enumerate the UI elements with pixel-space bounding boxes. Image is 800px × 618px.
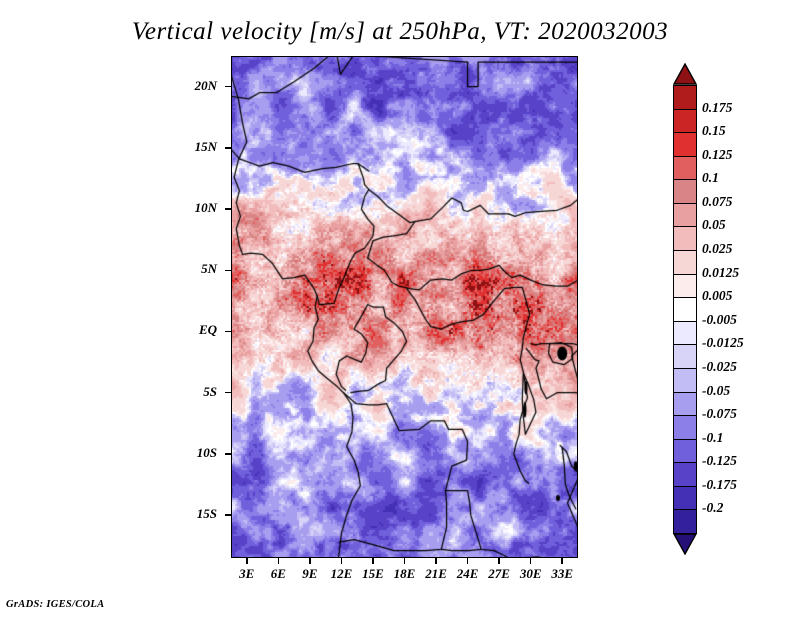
- colorbar-swatch: [673, 250, 697, 275]
- colorbar-tick-label: -0.025: [702, 359, 737, 375]
- chart-title: Vertical velocity [m/s] at 250hPa, VT: 2…: [0, 18, 800, 46]
- x-axis-tick: [341, 558, 343, 564]
- y-axis-label: 5N: [173, 261, 217, 277]
- y-axis-tick: [225, 453, 231, 455]
- map-plot-area: [231, 56, 578, 558]
- x-axis-tick: [467, 558, 469, 564]
- x-axis-tick: [246, 558, 248, 564]
- colorbar-tick-label: -0.005: [702, 312, 737, 328]
- colorbar-tick-label: 0.075: [702, 194, 732, 210]
- colorbar-tick-label: 0.025: [702, 241, 732, 257]
- colorbar-swatch: [673, 109, 697, 134]
- colorbar-tick-label: 0.0125: [702, 265, 739, 281]
- colorbar-tick-label: 0.05: [702, 217, 726, 233]
- colorbar-tick-label: 0.005: [702, 288, 732, 304]
- y-axis-tick: [225, 392, 231, 394]
- x-axis-tick: [309, 558, 311, 564]
- colorbar-arrow-up: [673, 63, 697, 85]
- colorbar-swatch: [673, 297, 697, 322]
- colorbar-swatch: [673, 274, 697, 299]
- footer-credit: GrADS: IGES/COLA: [6, 599, 104, 610]
- colorbar-tick-label: 0.125: [702, 147, 732, 163]
- x-axis-tick: [435, 558, 437, 564]
- colorbar-tick-label: -0.1: [702, 430, 723, 446]
- y-axis-label: 10S: [173, 445, 217, 461]
- colorbar-tick-label: 0.1: [702, 170, 719, 186]
- colorbar-tick-label: -0.175: [702, 477, 737, 493]
- x-axis-tick: [498, 558, 500, 564]
- x-axis-tick: [530, 558, 532, 564]
- x-axis-tick: [561, 558, 563, 564]
- colorbar-tick-label: -0.0125: [702, 335, 744, 351]
- colorbar-swatch: [673, 486, 697, 511]
- colorbar: [673, 63, 697, 555]
- y-axis-label: 15S: [173, 506, 217, 522]
- colorbar-swatch: [673, 179, 697, 204]
- y-axis-tick: [225, 147, 231, 149]
- colorbar-tick-label: -0.125: [702, 453, 737, 469]
- colorbar-swatch: [673, 321, 697, 346]
- colorbar-arrow-down: [673, 533, 697, 555]
- colorbar-swatch: [673, 132, 697, 157]
- colorbar-swatch: [673, 462, 697, 487]
- x-axis-tick: [278, 558, 280, 564]
- colorbar-swatch: [673, 344, 697, 369]
- y-axis-tick: [225, 208, 231, 210]
- colorbar-swatch: [673, 439, 697, 464]
- y-axis-label: 5S: [173, 384, 217, 400]
- colorbar-swatch: [673, 85, 697, 110]
- colorbar-tick-label: 0.15: [702, 123, 726, 139]
- colorbar-swatch: [673, 509, 697, 534]
- colorbar-swatch: [673, 392, 697, 417]
- colorbar-swatch: [673, 415, 697, 440]
- y-axis-label: 10N: [173, 200, 217, 216]
- x-axis-label: 33E: [540, 566, 584, 582]
- colorbar-swatch: [673, 226, 697, 251]
- colorbar-swatch: [673, 203, 697, 228]
- colorbar-tick-label: -0.2: [702, 500, 723, 516]
- colorbar-tick-label: -0.075: [702, 406, 737, 422]
- colorbar-tick-label: -0.05: [702, 383, 730, 399]
- x-axis-tick: [372, 558, 374, 564]
- colorbar-tick-label: 0.175: [702, 100, 732, 116]
- colorbar-swatch: [673, 368, 697, 393]
- y-axis-tick: [225, 331, 231, 333]
- y-axis-label: 15N: [173, 139, 217, 155]
- y-axis-tick: [225, 86, 231, 88]
- colorbar-swatch: [673, 156, 697, 181]
- x-axis-tick: [404, 558, 406, 564]
- y-axis-tick: [225, 514, 231, 516]
- chart-page: Vertical velocity [m/s] at 250hPa, VT: 2…: [0, 0, 800, 618]
- y-axis-tick: [225, 270, 231, 272]
- y-axis-label: 20N: [173, 78, 217, 94]
- y-axis-label: EQ: [173, 322, 217, 338]
- country-borders-overlay: [231, 56, 578, 558]
